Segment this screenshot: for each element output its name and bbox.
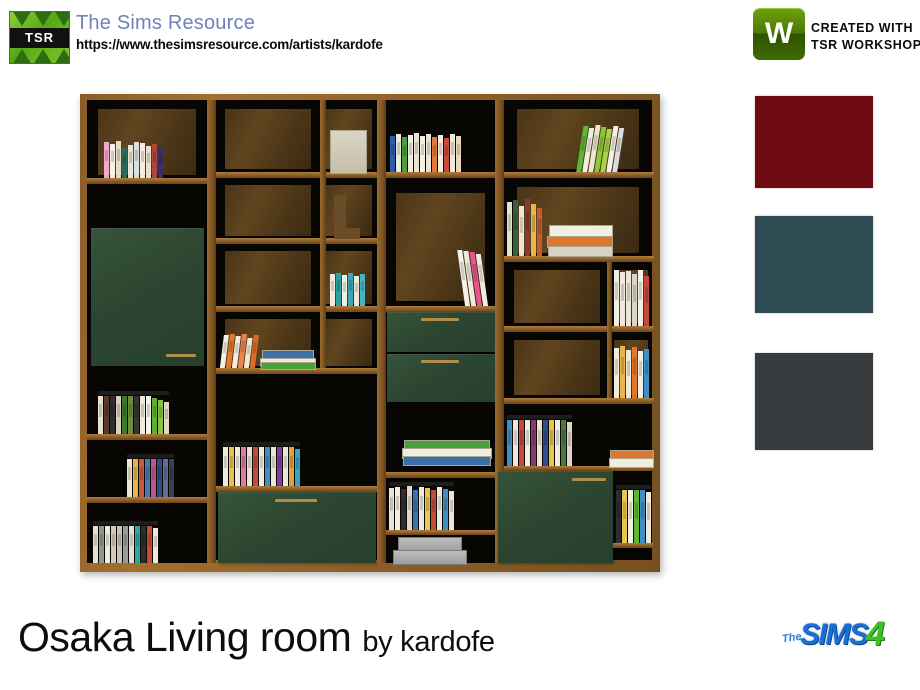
shelf-cubby: [504, 332, 610, 398]
shelf-post: [377, 100, 386, 563]
book-row: [93, 524, 158, 563]
storage-bin: [330, 130, 367, 174]
book-row: [98, 394, 169, 434]
cabinet-drawer[interactable]: [218, 492, 376, 563]
product-render-bookshelf: [80, 94, 660, 572]
shelf-cubby: [320, 312, 377, 368]
cabinet-drawer[interactable]: [387, 312, 495, 352]
shelf-cubby: [87, 184, 207, 228]
tsr-header: TSR The Sims Resource https://www.thesim…: [0, 0, 460, 72]
book-row: [507, 198, 542, 256]
book-row: [390, 132, 461, 172]
logo-chevron: [54, 11, 70, 26]
logo-chevron: [33, 11, 53, 26]
sims-logo-sims: SIMS: [800, 618, 867, 652]
shelf-cubby: [504, 262, 610, 326]
logo-chevron: [54, 49, 70, 64]
logo-chevron: [12, 49, 32, 64]
workshop-line-1: CREATED WITH: [811, 21, 913, 35]
color-swatch-dark-red[interactable]: [755, 96, 873, 188]
shelf-cubby: [216, 178, 320, 238]
page-title: Osaka Living roomby kardofe: [18, 614, 495, 661]
stacked-book: [548, 246, 613, 257]
drawer-handle[interactable]: [275, 499, 317, 502]
book-row: [223, 445, 300, 486]
bookcase-interior: [87, 100, 652, 560]
product-name: Osaka Living room: [18, 614, 351, 660]
drawer-handle[interactable]: [421, 318, 459, 321]
logo-chevron: [12, 11, 32, 26]
workshop-icon-letter: W: [753, 8, 805, 60]
book-row: [614, 268, 649, 326]
shelf-board: [613, 543, 653, 548]
cabinet-door[interactable]: [91, 228, 204, 366]
book-row: [614, 345, 649, 398]
shelf-post: [207, 100, 216, 563]
decor-object: [334, 228, 360, 239]
stacked-book: [609, 458, 654, 468]
book-row: [576, 124, 625, 172]
tsr-logo-text: TSR: [10, 28, 69, 48]
color-swatch-charcoal[interactable]: [755, 353, 873, 450]
bookcase-frame: [80, 94, 660, 572]
artist-url[interactable]: https://www.thesimsresource.com/artists/…: [76, 37, 383, 52]
shelf-cubby: [216, 100, 320, 172]
stacked-book: [261, 362, 316, 370]
site-name: The Sims Resource: [76, 12, 255, 35]
workshop-w-icon: W: [753, 8, 805, 60]
book-row: [389, 485, 454, 530]
book-row: [104, 140, 163, 178]
door-handle[interactable]: [166, 354, 196, 357]
door-handle[interactable]: [572, 478, 606, 481]
book-row: [220, 333, 259, 368]
book-row: [616, 488, 651, 543]
shelf-cubby: [216, 244, 320, 306]
sims-4-logo: The SIMS 4: [780, 614, 892, 660]
stacked-book: [403, 456, 491, 466]
book-row: [330, 272, 365, 306]
drawer-handle[interactable]: [421, 360, 459, 363]
book-row: [127, 457, 174, 497]
color-swatch-dark-teal[interactable]: [755, 216, 873, 313]
workshop-line-2: TSR WORKSHOP: [811, 38, 920, 52]
logo-chevron: [33, 49, 53, 64]
cabinet-drawer[interactable]: [387, 354, 495, 402]
shelf-post: [320, 100, 326, 368]
product-author: by kardofe: [351, 626, 494, 658]
storage-box: [393, 550, 467, 565]
sims-logo-number: 4: [866, 615, 883, 654]
cabinet-door[interactable]: [498, 471, 613, 563]
tsr-logo-icon: TSR: [9, 11, 70, 64]
created-with-tsr-workshop-badge: W CREATED WITH TSR WORKSHOP: [753, 8, 918, 64]
shelf-post: [607, 262, 612, 398]
book-row: [507, 418, 572, 466]
